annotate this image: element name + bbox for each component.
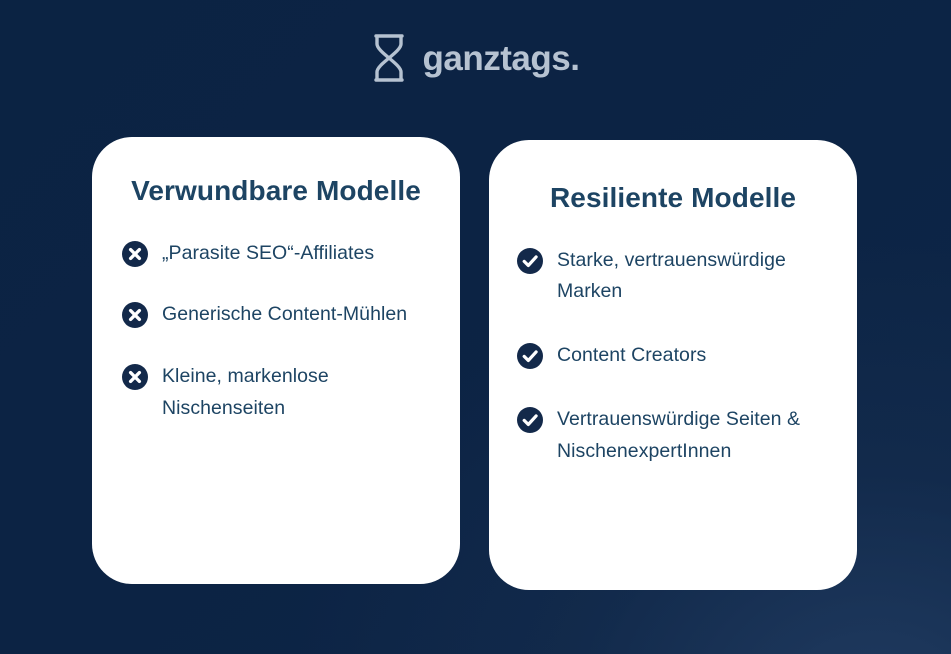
- x-circle-icon: [122, 364, 148, 390]
- card-title: Verwundbare Modelle: [122, 171, 430, 212]
- list-item-label: Generische Content-Mühlen: [162, 299, 407, 331]
- card-list: „Parasite SEO“-Affiliates Generische Con…: [122, 238, 430, 425]
- x-circle-icon: [122, 241, 148, 267]
- list-item-label: Vertrauenswürdige Seiten & Nischenexpert…: [557, 404, 829, 468]
- list-item: „Parasite SEO“-Affiliates: [122, 238, 430, 270]
- list-item: Kleine, markenlose Nischenseiten: [122, 361, 430, 425]
- card-list: Starke, vertrauenswürdige Marken Content…: [517, 245, 829, 468]
- list-item: Content Creators: [517, 340, 829, 372]
- list-item-label: Content Creators: [557, 340, 706, 372]
- brand-name: ganztags.: [423, 41, 580, 76]
- check-circle-icon: [517, 343, 543, 369]
- list-item-label: Kleine, markenlose Nischenseiten: [162, 361, 430, 425]
- x-circle-icon: [122, 302, 148, 328]
- list-item-label: „Parasite SEO“-Affiliates: [162, 238, 374, 270]
- hourglass-icon: [372, 33, 406, 83]
- card-verwundbare-modelle: Verwundbare Modelle „Parasite SEO“-Affil…: [92, 137, 460, 584]
- card-resiliente-modelle: Resiliente Modelle Starke, vertrauenswür…: [489, 140, 857, 590]
- check-circle-icon: [517, 407, 543, 433]
- card-title: Resiliente Modelle: [517, 178, 829, 219]
- list-item-label: Starke, vertrauenswürdige Marken: [557, 245, 829, 309]
- check-circle-icon: [517, 248, 543, 274]
- list-item: Starke, vertrauenswürdige Marken: [517, 245, 829, 309]
- list-item: Generische Content-Mühlen: [122, 299, 430, 331]
- brand-logo: ganztags.: [0, 33, 951, 83]
- list-item: Vertrauenswürdige Seiten & Nischenexpert…: [517, 404, 829, 468]
- slide-root: ganztags. Verwundbare Modelle „Parasite …: [0, 0, 951, 654]
